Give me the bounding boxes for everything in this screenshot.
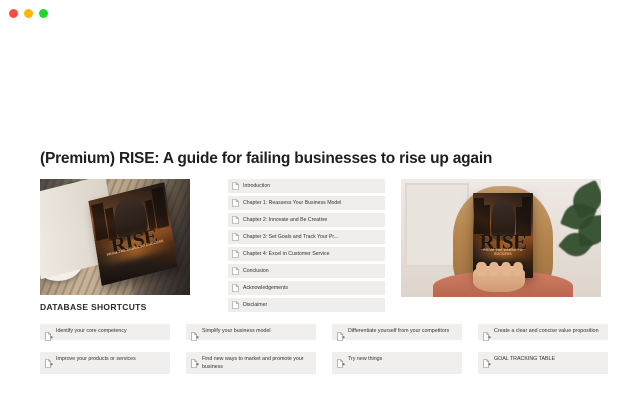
page-icon: [232, 267, 239, 275]
page-icon: [232, 301, 239, 309]
cover-building: [474, 198, 484, 234]
finger: [476, 262, 486, 275]
database-shortcut-card[interactable]: Find new ways to market and promote your…: [186, 352, 316, 374]
finger: [513, 262, 523, 275]
table-of-contents-list: IntroductionChapter 1: Reassess Your Bus…: [228, 179, 385, 312]
database-shortcut-label: Find new ways to market and promote your…: [202, 355, 311, 371]
book-on-table-photo: RISE FROM THE ASHES TO SUCCESS: [40, 179, 190, 295]
database-shortcut-card[interactable]: Simplify your business model: [186, 324, 316, 340]
maximize-window-button[interactable]: [39, 9, 48, 18]
document-page: (Premium) RISE: A guide for failing busi…: [0, 26, 640, 400]
database-shortcut-label: GOAL TRACKING TABLE: [494, 355, 555, 363]
book-cover-art: RISE FROM THE ASHES TO SUCCESS: [88, 182, 177, 286]
database-shortcut-card[interactable]: Try new things: [332, 352, 462, 374]
database-shortcut-label: Create a clear and concise value proposi…: [494, 327, 599, 335]
page-icon: [232, 233, 239, 241]
minimize-window-button[interactable]: [24, 9, 33, 18]
toc-item-label: Chapter 4: Excel in Customer Service: [243, 249, 330, 260]
page-link-icon: [483, 328, 491, 337]
toc-item[interactable]: Introduction: [228, 179, 385, 193]
database-shortcut-card[interactable]: Create a clear and concise value proposi…: [478, 324, 608, 340]
person-hand: [473, 266, 525, 292]
page-link-icon: [337, 355, 345, 364]
toc-item[interactable]: Chapter 2: Innovate and Be Creative: [228, 213, 385, 227]
page-link-icon: [191, 328, 199, 337]
database-shortcut-card[interactable]: Differentiate yourself from your competi…: [332, 324, 462, 340]
person-holding-book-photo: RISE FROM THE ASHES TO SUCCESS: [401, 179, 601, 297]
page-icon: [232, 182, 239, 190]
book-cover-left: RISE FROM THE ASHES TO SUCCESS: [88, 182, 177, 286]
toc-item[interactable]: Disclaimer: [228, 298, 385, 312]
database-shortcut-card[interactable]: Improve your products or services: [40, 352, 170, 374]
toc-item-label: Acknowledgements: [243, 283, 288, 294]
page-link-icon: [45, 328, 53, 337]
finger: [501, 262, 511, 275]
page-icon: [232, 284, 239, 292]
toc-item-label: Introduction: [243, 181, 270, 192]
database-shortcut-label: Try new things: [348, 355, 382, 363]
table-of-contents-column: IntroductionChapter 1: Reassess Your Bus…: [228, 179, 385, 315]
window-titlebar: [0, 0, 640, 26]
finger: [489, 262, 499, 275]
page-link-icon: [337, 328, 345, 337]
page-link-icon: [483, 355, 491, 364]
page-icon: [232, 250, 239, 258]
cover-subtitle-text: FROM THE ASHES TO SUCCESS: [478, 248, 528, 256]
toc-item-label: Chapter 2: Innovate and Be Creative: [243, 215, 327, 226]
toc-item[interactable]: Chapter 4: Excel in Customer Service: [228, 247, 385, 261]
page-icon: [232, 199, 239, 207]
close-window-button[interactable]: [9, 9, 18, 18]
toc-item-label: Chapter 1: Reassess Your Business Model: [243, 198, 341, 209]
toc-item[interactable]: Chapter 1: Reassess Your Business Model: [228, 196, 385, 210]
toc-item[interactable]: Chapter 3: Set Goals and Track Your Pr..…: [228, 230, 385, 244]
page-title: (Premium) RISE: A guide for failing busi…: [40, 150, 600, 169]
database-shortcut-card[interactable]: GOAL TRACKING TABLE: [478, 352, 608, 374]
database-shortcut-label: Improve your products or services: [56, 355, 136, 363]
page-icon: [232, 216, 239, 224]
media-and-toc-row: RISE FROM THE ASHES TO SUCCESS Introduct…: [40, 179, 600, 297]
database-shortcuts-grid: Identify your core competencySimplify yo…: [40, 324, 600, 374]
page-link-icon: [191, 355, 199, 364]
database-shortcuts-heading: DATABASE SHORTCUTS: [40, 302, 147, 312]
app-window: (Premium) RISE: A guide for failing busi…: [0, 0, 640, 400]
left-image-column: RISE FROM THE ASHES TO SUCCESS: [40, 179, 190, 295]
toc-item[interactable]: Conclusion: [228, 264, 385, 278]
database-shortcut-label: Differentiate yourself from your competi…: [348, 327, 449, 335]
toc-item[interactable]: Acknowledgements: [228, 281, 385, 295]
toc-item-label: Chapter 3: Set Goals and Track Your Pr..…: [243, 232, 338, 243]
database-shortcut-label: Identify your core competency: [56, 327, 127, 335]
database-shortcut-label: Simplify your business model: [202, 327, 271, 335]
right-image-column: RISE FROM THE ASHES TO SUCCESS: [401, 179, 601, 297]
toc-item-label: Conclusion: [243, 266, 269, 277]
toc-item-label: Disclaimer: [243, 300, 267, 311]
database-shortcut-card[interactable]: Identify your core competency: [40, 324, 170, 340]
page-link-icon: [45, 355, 53, 364]
